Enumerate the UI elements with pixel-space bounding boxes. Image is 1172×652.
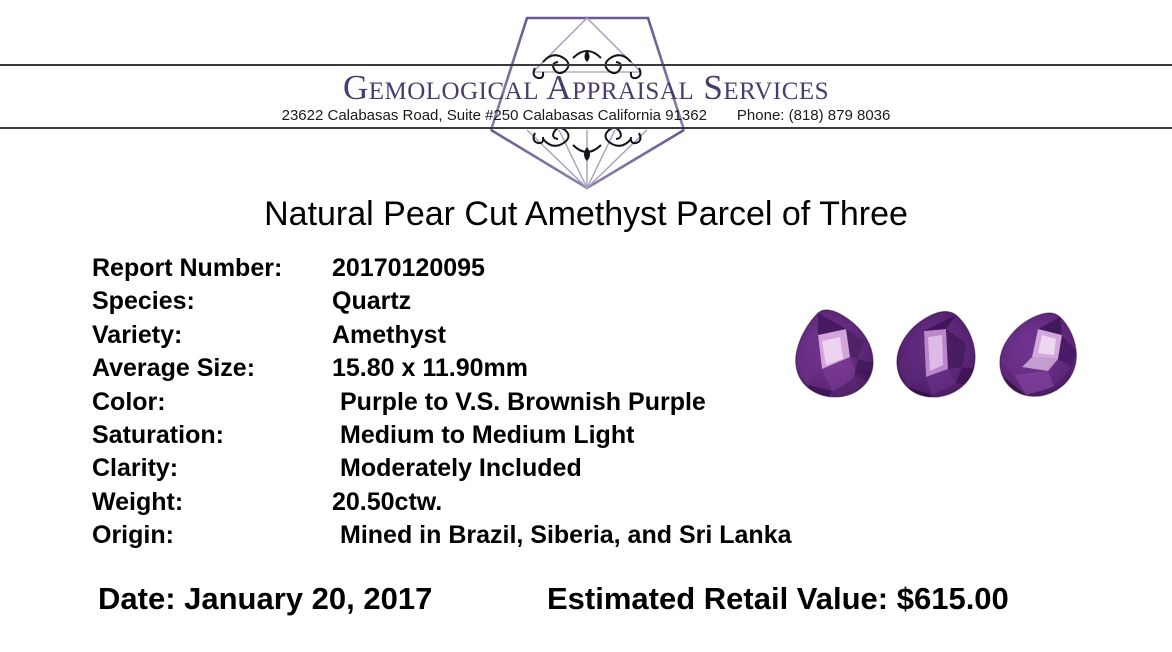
spec-value: Quartz — [332, 285, 411, 318]
spec-row-saturation: Saturation: Medium to Medium Light — [92, 419, 892, 452]
spec-row-weight: Weight: 20.50ctw. — [92, 486, 892, 519]
spec-value: Purple to V.S. Brownish Purple — [332, 386, 706, 419]
spec-label: Weight: — [92, 486, 332, 519]
amethyst-stone-1-image — [788, 307, 880, 401]
spec-row-origin: Origin: Mined in Brazil, Siberia, and Sr… — [92, 519, 892, 552]
spec-label: Saturation: — [92, 419, 332, 452]
gemstone-images — [788, 306, 1084, 402]
spec-row-report-number: Report Number: 20170120095 — [92, 252, 892, 285]
page-title: Natural Pear Cut Amethyst Parcel of Thre… — [0, 192, 1172, 236]
spec-row-color: Color: Purple to V.S. Brownish Purple — [92, 386, 892, 419]
spec-row-average-size: Average Size: 15.80 x 11.90mm — [92, 352, 892, 385]
spec-label: Average Size: — [92, 352, 332, 385]
spec-row-species: Species: Quartz — [92, 285, 892, 318]
spec-value: 20.50ctw. — [332, 486, 442, 519]
estimated-retail-value: Estimated Retail Value: $615.00 — [547, 578, 1009, 620]
amethyst-stone-2-image — [890, 307, 982, 401]
phone-number: Phone: (818) 879 8036 — [737, 107, 890, 124]
company-name: Gemological Appraisal Services — [0, 70, 1172, 106]
spec-value: Medium to Medium Light — [332, 419, 634, 452]
address-line: 23622 Calabasas Road, Suite #250 Calabas… — [0, 107, 1172, 124]
spec-label: Report Number: — [92, 252, 332, 285]
header-rule-top — [0, 64, 1172, 66]
spec-value: 20170120095 — [332, 252, 485, 285]
spec-row-variety: Variety: Amethyst — [92, 319, 892, 352]
footer: Date: January 20, 2017 Estimated Retail … — [0, 578, 1172, 624]
spec-label: Clarity: — [92, 452, 332, 485]
header-rule-bottom — [0, 127, 1172, 129]
letterhead: Gemological Appraisal Services 23622 Cal… — [0, 0, 1172, 190]
address-text: 23622 Calabasas Road, Suite #250 Calabas… — [282, 107, 707, 124]
spec-value: 15.80 x 11.90mm — [332, 352, 528, 385]
spec-row-clarity: Clarity: Moderately Included — [92, 452, 892, 485]
spec-value: Mined in Brazil, Siberia, and Sri Lanka — [332, 519, 792, 552]
appraisal-date: Date: January 20, 2017 — [98, 578, 432, 620]
spec-label: Species: — [92, 285, 332, 318]
spec-value: Amethyst — [332, 319, 446, 352]
spec-label: Origin: — [92, 519, 332, 552]
amethyst-stone-3-image — [992, 307, 1084, 401]
spec-label: Variety: — [92, 319, 332, 352]
spec-value: Moderately Included — [332, 452, 582, 485]
specifications-list: Report Number: 20170120095 Species: Quar… — [92, 252, 892, 553]
spec-label: Color: — [92, 386, 332, 419]
